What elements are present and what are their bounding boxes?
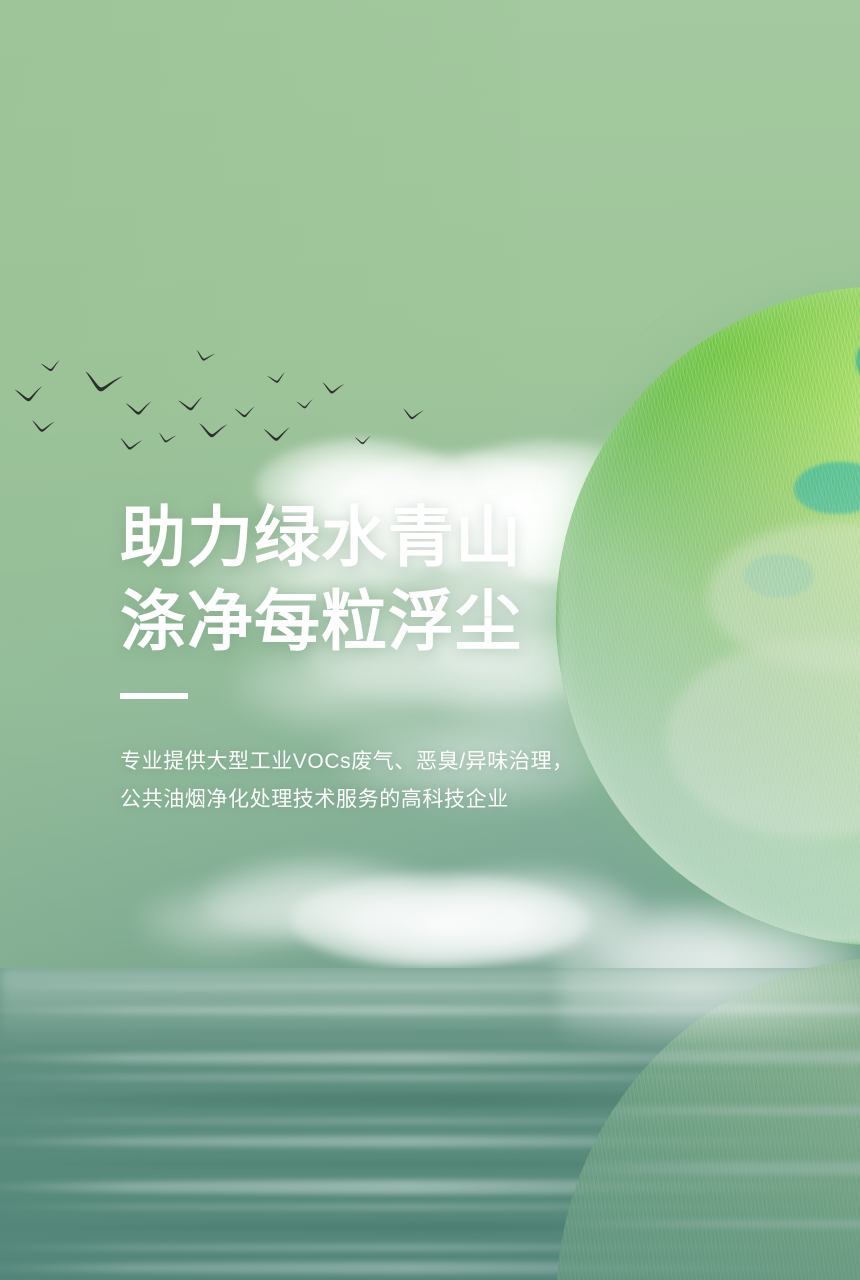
subtitle-line-1: 专业提供大型工业VOCs废气、恶臭/异味治理， <box>120 743 680 781</box>
shore-mist <box>560 930 860 1050</box>
bird-icon <box>30 419 55 434</box>
headline-block: 助力绿水青山 涤净每粒浮尘 专业提供大型工业VOCs废气、恶臭/异味治理， 公共… <box>120 495 680 819</box>
bird-icon <box>125 400 154 417</box>
bird-icon <box>118 436 143 451</box>
birds-flock <box>0 0 470 140</box>
eco-poster: 助力绿水青山 涤净每粒浮尘 专业提供大型工业VOCs废气、恶臭/异味治理， 公共… <box>0 0 860 1280</box>
headline-line-1: 助力绿水青山 <box>120 495 680 579</box>
bird-icon <box>262 426 291 443</box>
headline-line-2: 涤净每粒浮尘 <box>120 579 680 663</box>
bird-icon <box>354 435 372 445</box>
subtitle-line-2: 公共油烟净化处理技术服务的高科技企业 <box>120 781 680 819</box>
headline-divider <box>120 693 188 699</box>
bird-icon <box>197 421 228 439</box>
bird-icon <box>13 384 45 403</box>
bird-icon <box>401 407 424 421</box>
bird-icon <box>234 405 257 418</box>
bird-icon <box>321 381 345 395</box>
